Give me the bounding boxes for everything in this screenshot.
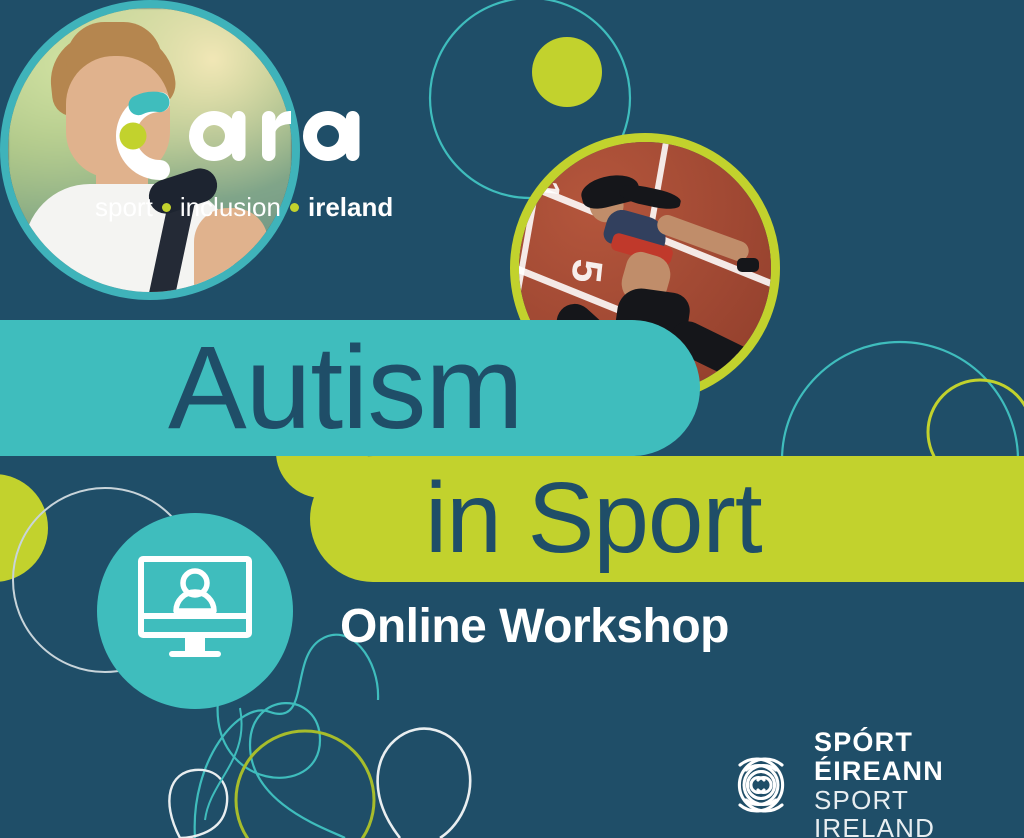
- thin-white-loop-bottom-left-icon: [169, 770, 227, 838]
- sport-ireland-name-english: SPORT IRELAND: [814, 786, 1024, 838]
- cara-c-ring-accent: [139, 102, 160, 106]
- lime-dot-top-icon: [532, 37, 602, 107]
- cara-tagline-dot-1: [162, 203, 171, 212]
- cara-c-center-dot: [120, 123, 147, 150]
- cara-tagline-word-inclusion: inclusion: [180, 192, 281, 223]
- cara-logo: sport inclusion ireland: [92, 80, 402, 230]
- cara-tagline-dot-2: [290, 203, 299, 212]
- poster-canvas: 5 4 3 1: [0, 0, 1024, 838]
- lime-blob-left-upper-icon: [0, 474, 48, 582]
- monitor-person-icon: [135, 553, 255, 669]
- cara-tagline-word-ireland: ireland: [308, 192, 393, 223]
- thin-lime-circle-bottom-icon: [236, 731, 374, 838]
- cara-tagline: sport inclusion ireland: [95, 192, 393, 223]
- headline-line-2: in Sport: [425, 452, 762, 584]
- sport-ireland-logo: SPÓRT ÉIREANN SPORT IRELAND: [724, 728, 1024, 838]
- workshop-icon-badge: [97, 513, 293, 709]
- thin-white-loop-bottom-right-icon: [378, 729, 470, 838]
- cara-wordmark-icon: [92, 80, 402, 192]
- spiral-s-icon: [724, 748, 798, 822]
- subtitle-online-workshop: Online Workshop: [340, 603, 729, 651]
- headline-line-1: Autism: [168, 318, 523, 458]
- sport-ireland-name-irish: SPÓRT ÉIREANN: [814, 728, 1024, 786]
- cara-tagline-word-sport: sport: [95, 192, 153, 223]
